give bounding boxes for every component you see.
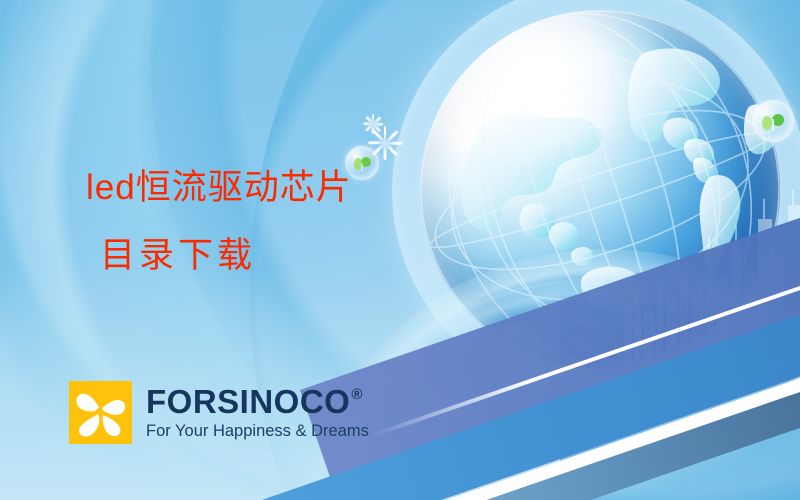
logo-text-block: FORSINOCO ® For Your Happiness & Dreams: [146, 385, 369, 441]
sprout-icon: [752, 100, 794, 142]
headline: led恒流驱动芯片 目录下载: [86, 166, 352, 278]
brand-logo: FORSINOCO ® For Your Happiness & Dreams: [69, 381, 369, 444]
logo-name-text: FORSINOCO: [146, 385, 350, 419]
headline-line-2: 目录下载: [100, 234, 352, 278]
logo-tagline: For Your Happiness & Dreams: [146, 422, 369, 441]
bubble-right: [752, 100, 794, 142]
logo-wordmark: FORSINOCO ®: [146, 385, 369, 419]
four-petal-flower-icon: [69, 381, 132, 444]
sparkle-small: [363, 114, 383, 134]
registered-mark-icon: ®: [351, 387, 363, 402]
slide-canvas: led恒流驱动芯片 目录下载 FORSINOCO ® For Your Happ…: [0, 0, 800, 500]
headline-line-1: led恒流驱动芯片: [86, 166, 352, 210]
